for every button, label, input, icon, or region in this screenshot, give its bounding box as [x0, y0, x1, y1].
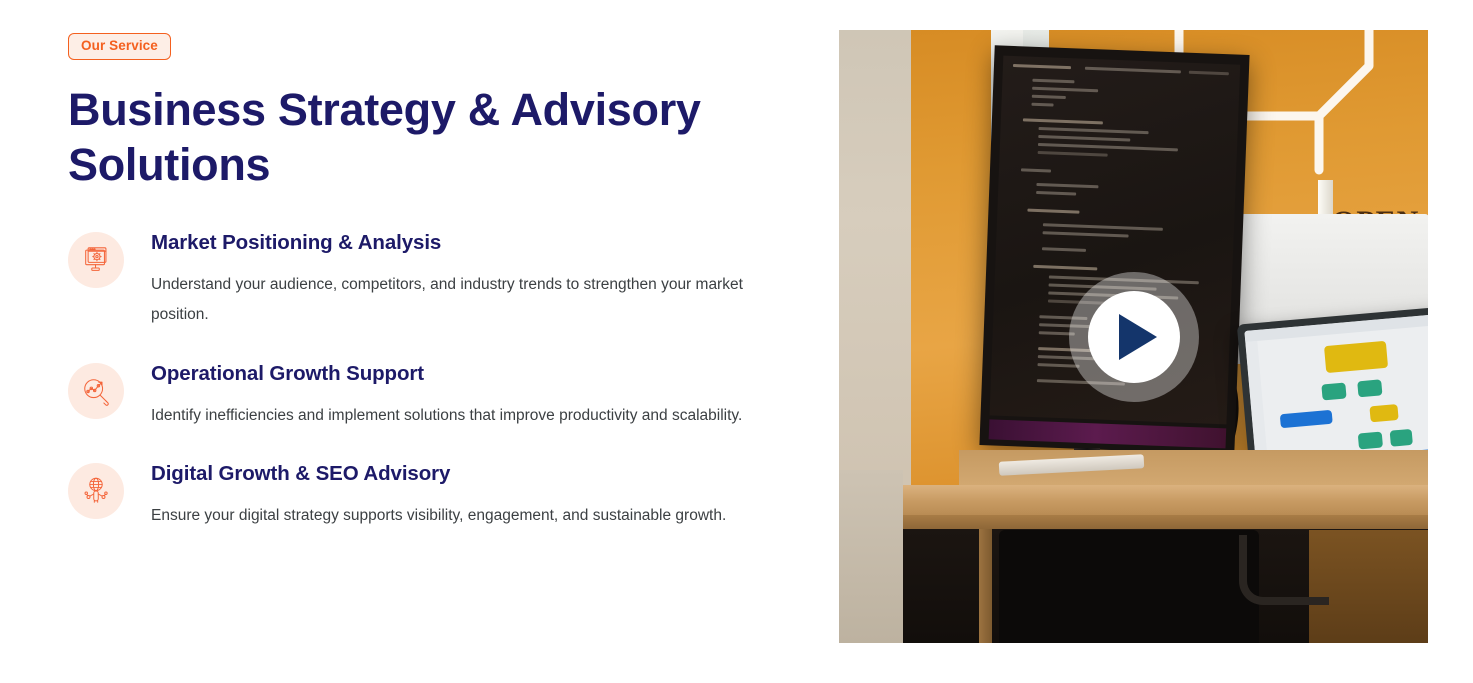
- play-button[interactable]: [1069, 272, 1199, 402]
- feature-description: Understand your audience, competitors, a…: [151, 270, 801, 331]
- office-chair: [999, 530, 1259, 643]
- feature-text: Operational Growth Support Identify inef…: [151, 361, 808, 431]
- taskbar: [989, 419, 1227, 448]
- play-icon: [1119, 314, 1157, 360]
- diagram-note: [1390, 429, 1413, 447]
- diagram-note: [1280, 410, 1333, 428]
- wall-beige: [839, 30, 911, 502]
- video-thumbnail[interactable]: OPEN : [839, 30, 1428, 643]
- wall-lower-left: [839, 470, 903, 643]
- page-title: Business Strategy & Advisory Solutions: [68, 82, 708, 193]
- feature-title: Operational Growth Support: [151, 362, 808, 387]
- desk-top: [901, 485, 1428, 515]
- list-item: Market Positioning & Analysis Understand…: [68, 230, 808, 331]
- feature-title: Market Positioning & Analysis: [151, 231, 808, 256]
- feature-text: Market Positioning & Analysis Understand…: [151, 230, 808, 331]
- diagram-note: [1358, 431, 1383, 449]
- list-item: Digital Growth & SEO Advisory Ensure you…: [68, 461, 808, 531]
- diagram-note: [1321, 382, 1346, 400]
- diagram-note: [1324, 341, 1388, 373]
- feature-text: Digital Growth & SEO Advisory Ensure you…: [151, 461, 808, 531]
- desk-leg: [979, 529, 992, 643]
- monitor-gear-icon: [68, 232, 124, 288]
- feature-list: Market Positioning & Analysis Understand…: [68, 230, 808, 532]
- chair-armrest: [1239, 535, 1329, 605]
- desk-edge: [901, 515, 1428, 529]
- globe-network-icon: [68, 463, 124, 519]
- content-column: Our Service Business Strategy & Advisory…: [68, 33, 808, 532]
- list-item: Operational Growth Support Identify inef…: [68, 361, 808, 431]
- feature-title: Digital Growth & SEO Advisory: [151, 462, 808, 487]
- feature-description: Ensure your digital strategy supports vi…: [151, 501, 801, 532]
- diagram-note: [1369, 404, 1398, 422]
- service-section: Our Service Business Strategy & Advisory…: [0, 0, 1473, 683]
- magnifier-growth-chart-icon: [68, 363, 124, 419]
- play-circle: [1088, 291, 1180, 383]
- feature-description: Identify inefficiencies and implement so…: [151, 401, 801, 432]
- diagram-note: [1357, 379, 1382, 397]
- section-badge: Our Service: [68, 33, 171, 60]
